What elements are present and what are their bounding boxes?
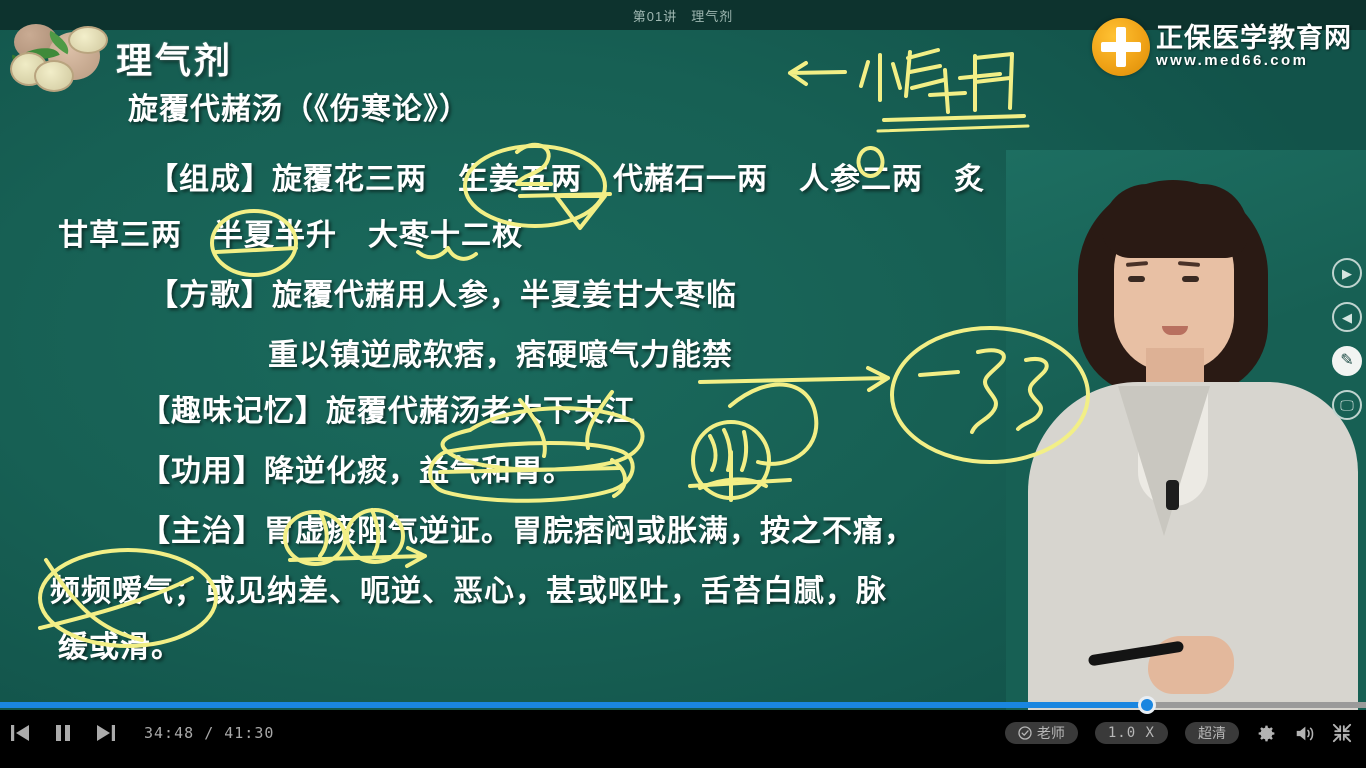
progress-knob[interactable] bbox=[1138, 696, 1156, 714]
total-time: 41:30 bbox=[224, 724, 274, 742]
lecture-line: 【功用】降逆化痰，益气和胃。 bbox=[140, 457, 574, 487]
volume-button[interactable] bbox=[1294, 724, 1315, 743]
pen-icon: ✎ bbox=[1334, 348, 1360, 374]
lecture-line: 重以镇逆咸软痞，痞硬噫气力能禁 bbox=[268, 341, 733, 371]
lecture-title: 第01讲 理气剂 bbox=[633, 6, 733, 25]
volume-icon bbox=[1294, 724, 1315, 743]
pen-tool-button[interactable]: ✎ bbox=[1332, 346, 1362, 376]
check-circle-icon bbox=[1018, 726, 1032, 740]
lecture-line: 【主治】胃虚痰阻气逆证。胃脘痞闷或胀满，按之不痛， bbox=[140, 517, 915, 547]
time-separator: / bbox=[204, 724, 214, 742]
lecture-line: 【组成】旋覆花三两 生姜五两 代赭石一两 人参二两 炙 bbox=[148, 165, 985, 195]
lecture-line: 【方歌】旋覆代赭用人参，半夏姜甘大枣临 bbox=[148, 281, 737, 311]
herb-illustration-icon bbox=[4, 22, 114, 94]
settings-button[interactable] bbox=[1256, 723, 1277, 744]
exit-fullscreen-icon bbox=[1332, 723, 1352, 743]
brand-logo: 正保医学教育网 www.med66.com bbox=[1092, 16, 1360, 78]
screen-note-button[interactable]: 🖵 bbox=[1332, 390, 1362, 420]
lecture-line: 甘草三两 半夏半升 大枣十二枚 bbox=[58, 221, 523, 251]
lecture-line: 缓或滑。 bbox=[58, 633, 182, 663]
next-clip-button[interactable]: ▶ bbox=[1332, 258, 1362, 288]
next-icon bbox=[96, 724, 116, 742]
quality-button[interactable]: 超清 bbox=[1185, 722, 1239, 744]
previous-icon bbox=[10, 724, 30, 742]
quality-label: 超清 bbox=[1198, 726, 1226, 740]
exit-fullscreen-button[interactable] bbox=[1332, 723, 1352, 743]
monitor-icon: 🖵 bbox=[1334, 392, 1360, 418]
side-tool-buttons[interactable]: ▶ ◀ ✎ 🖵 bbox=[1332, 258, 1366, 434]
teacher-badge[interactable]: 老师 bbox=[1005, 722, 1078, 744]
brand-name: 正保医学教育网 bbox=[1156, 24, 1352, 52]
pause-button[interactable] bbox=[54, 724, 72, 742]
page-title: 理气剂 bbox=[116, 32, 233, 84]
next-button[interactable] bbox=[96, 724, 116, 742]
lecture-board: 第01讲 理气剂 理气剂 正保医学教育网 www.med66.com 旋覆代赭汤… bbox=[0, 0, 1366, 710]
previous-button[interactable] bbox=[10, 724, 30, 742]
cross-mark-icon bbox=[1092, 18, 1150, 76]
current-time: 34:48 bbox=[144, 724, 194, 742]
lecture-line: 【趣味记忆】旋覆代赭汤老大下夫江 bbox=[140, 397, 636, 427]
play-right-icon: ▶ bbox=[1334, 260, 1360, 286]
gear-icon bbox=[1256, 723, 1277, 744]
video-player-page: 第01讲 理气剂 理气剂 正保医学教育网 www.med66.com 旋覆代赭汤… bbox=[0, 0, 1366, 768]
playback-speed-button[interactable]: 1.0 X bbox=[1095, 722, 1168, 744]
progress-fill bbox=[0, 702, 1147, 708]
progress-bar[interactable] bbox=[0, 699, 1366, 710]
pause-icon bbox=[54, 724, 72, 742]
lecture-line: 频频嗳气；或见纳差、呃逆、恶心，甚或呕吐，舌苔白腻，脉 bbox=[50, 577, 887, 607]
brand-url: www.med66.com bbox=[1156, 52, 1352, 70]
time-display: 34:48 / 41:30 bbox=[144, 724, 274, 742]
playback-speed-label: 1.0 X bbox=[1108, 726, 1155, 740]
lecture-line: 旋覆代赭汤（《伤寒论》） bbox=[128, 95, 470, 125]
prev-clip-button[interactable]: ◀ bbox=[1332, 302, 1362, 332]
teacher-badge-label: 老师 bbox=[1037, 726, 1065, 740]
instructor-video bbox=[1006, 150, 1366, 710]
play-left-icon: ◀ bbox=[1334, 304, 1360, 330]
player-bar: 34:48 / 41:30 老师 1.0 X 超清 bbox=[0, 710, 1366, 768]
